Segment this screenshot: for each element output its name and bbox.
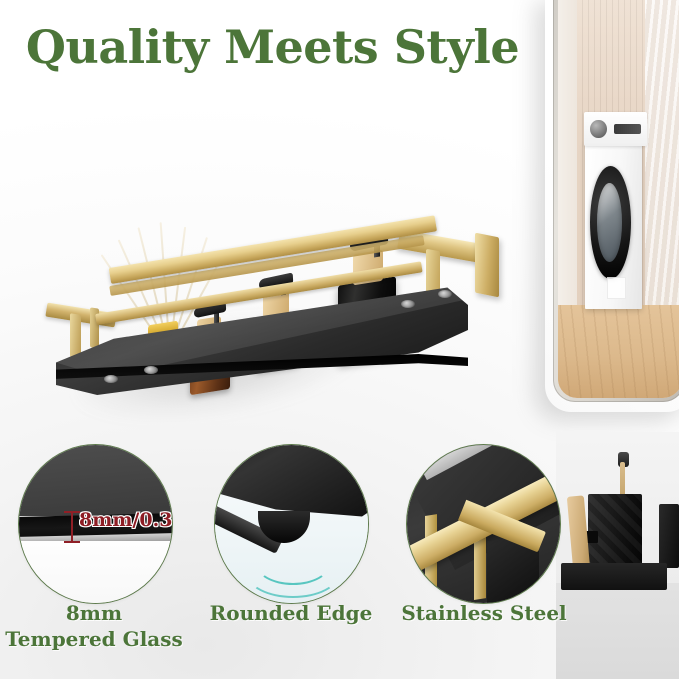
- product-marketing-image: Quality Meets Style: [0, 0, 679, 679]
- white-backdrop: [18, 541, 173, 604]
- black-tray: [561, 563, 667, 590]
- mounting-screw: [401, 300, 415, 308]
- feature-label-thickness: 8mm Tempered Glass: [0, 600, 189, 652]
- glass-cross-section-icon: 8mm/0.31″: [18, 444, 173, 604]
- caliper-bottom-cap: [64, 541, 80, 543]
- feature-label-line1: Stainless Steel: [389, 600, 579, 626]
- feature-label-line1: Rounded Edge: [196, 600, 386, 626]
- washing-machine: [585, 142, 642, 308]
- feature-label-rounded-edge: Rounded Edge: [196, 600, 386, 626]
- hero-product-shelf: [38, 118, 508, 418]
- feature-label-line1: 8mm: [0, 600, 189, 626]
- sheer-curtain: [645, 0, 679, 333]
- gold-wall-plate-right: [475, 233, 499, 298]
- bathroom-counter: [556, 583, 679, 679]
- gold-rail-icon: [406, 444, 561, 604]
- washer-control-panel: [584, 112, 648, 145]
- rounded-corner-icon: [214, 444, 369, 604]
- thickness-callout: 8mm/0.31″: [79, 509, 173, 531]
- mirror-frame: [553, 0, 679, 402]
- mounting-screw: [144, 366, 158, 374]
- feature-label-line2: Tempered Glass: [0, 626, 189, 652]
- mirror-scene: [553, 0, 679, 406]
- page-title: Quality Meets Style: [0, 21, 545, 73]
- washer-display: [614, 124, 641, 134]
- washer-drum: [597, 183, 622, 262]
- mirror-glass: [558, 0, 679, 398]
- ripple-arc: [237, 555, 349, 604]
- black-container-right: [659, 504, 679, 568]
- washer-door: [590, 166, 631, 279]
- washer-dial-icon: [590, 120, 607, 138]
- mounting-screw: [438, 290, 452, 298]
- feature-label-stainless-steel: Stainless Steel: [389, 600, 579, 626]
- glass-top-face: [18, 445, 173, 516]
- caliper-line: [71, 511, 73, 543]
- mounting-screw: [104, 375, 118, 383]
- washer-badge: [607, 277, 626, 299]
- toothbrush-holder-scene: [556, 432, 679, 679]
- gold-post-left: [70, 313, 81, 359]
- gold-post-detail: [474, 532, 486, 600]
- wood-floor: [558, 305, 679, 398]
